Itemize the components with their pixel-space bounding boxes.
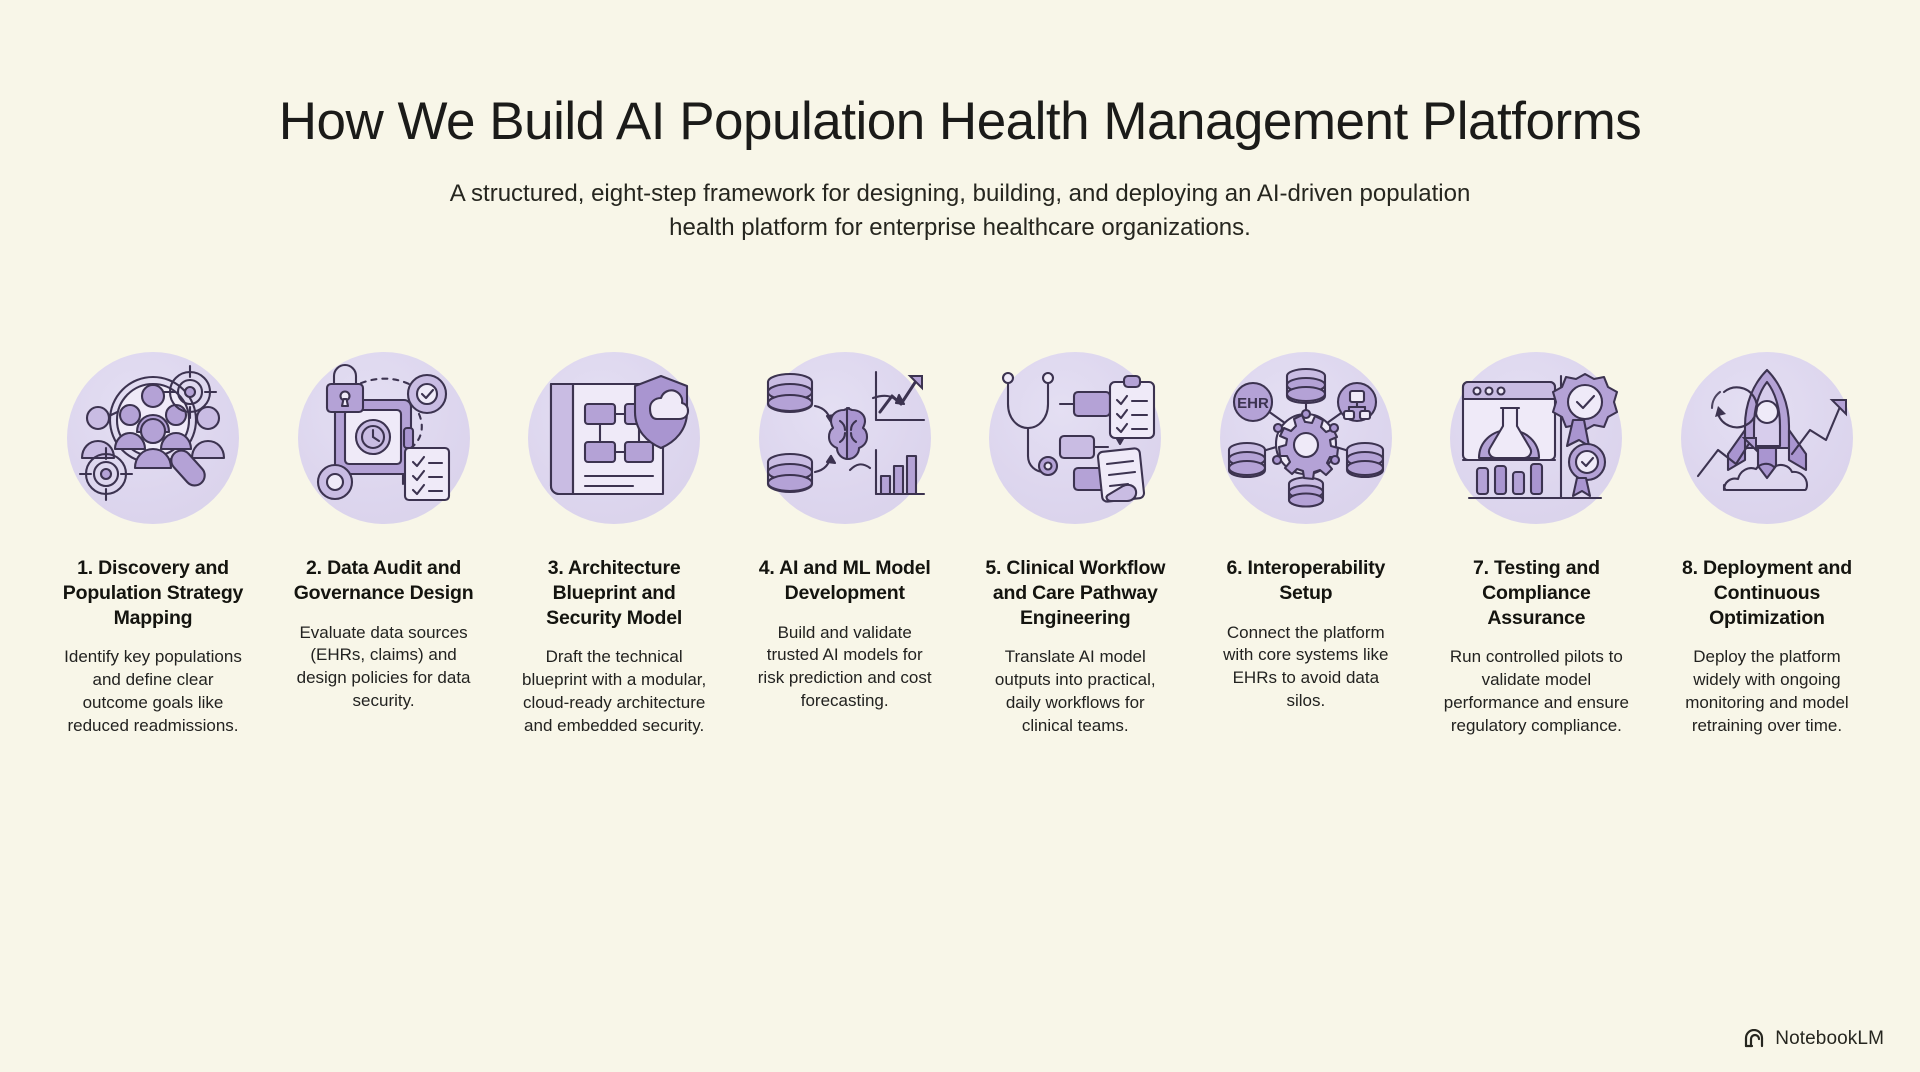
step-description: Connect the platform with core systems l… — [1213, 622, 1399, 713]
step-7-icon-wrap — [1443, 352, 1629, 524]
step-description: Deploy the platform widely with ongoing … — [1674, 646, 1860, 737]
step-title: 8. Deployment and Continuous Optimizatio… — [1675, 556, 1859, 630]
step-description: Run controlled pilots to validate model … — [1443, 646, 1629, 737]
infographic-page: How We Build AI Population Health Manage… — [0, 0, 1920, 1072]
page-subtitle: A structured, eight-step framework for d… — [420, 177, 1500, 245]
step-5-icon-wrap — [982, 352, 1168, 524]
database-bottom-center — [1289, 478, 1323, 507]
rocket-growth-refresh-icon — [1682, 358, 1852, 518]
header: How We Build AI Population Health Manage… — [0, 0, 1920, 246]
step-8-icon-wrap — [1674, 352, 1860, 524]
steps-row: 1. Discovery and Population Strategy Map… — [60, 352, 1860, 737]
watermark: NotebookLM — [1743, 1028, 1884, 1050]
step-card-6[interactable]: EHR — [1213, 352, 1399, 713]
watermark-label: NotebookLM — [1775, 1028, 1884, 1050]
step-card-2[interactable]: 2. Data Audit and Governance Design Eval… — [291, 352, 477, 713]
step-title: 1. Discovery and Population Strategy Map… — [61, 556, 245, 630]
step-description: Draft the technical blueprint with a mod… — [521, 646, 707, 737]
database-top-center — [1287, 369, 1325, 403]
step-2-icon-wrap — [291, 352, 477, 524]
step-6-icon-wrap: EHR — [1213, 352, 1399, 524]
step-description: Build and validate trusted AI models for… — [752, 622, 938, 713]
database-left — [1229, 443, 1265, 477]
stethoscope-workflow-clipboard-icon — [990, 358, 1160, 518]
step-title: 4. AI and ML Model Development — [753, 556, 937, 606]
step-card-4[interactable]: 4. AI and ML Model Development Build and… — [752, 352, 938, 713]
step-title: 5. Clinical Workflow and Care Pathway En… — [983, 556, 1167, 630]
step-card-3[interactable]: 3. Architecture Blueprint and Security M… — [521, 352, 707, 737]
step-card-8[interactable]: 8. Deployment and Continuous Optimizatio… — [1674, 352, 1860, 737]
database-right — [1347, 443, 1383, 477]
step-title: 2. Data Audit and Governance Design — [292, 556, 476, 606]
hub-gear-database-ehr-icon: EHR — [1221, 358, 1391, 518]
step-card-1[interactable]: 1. Discovery and Population Strategy Map… — [60, 352, 246, 737]
blueprint-shield-cloud-icon — [529, 358, 699, 518]
step-description: Translate AI model outputs into practica… — [982, 646, 1168, 737]
step-3-icon-wrap — [521, 352, 707, 524]
database-bottom — [768, 454, 812, 492]
safe-lock-gear-checklist-icon — [299, 358, 469, 518]
step-title: 3. Architecture Blueprint and Security M… — [522, 556, 706, 630]
badge-small — [1569, 444, 1605, 496]
step-card-7[interactable]: 7. Testing and Compliance Assurance Run … — [1443, 352, 1629, 737]
step-4-icon-wrap — [752, 352, 938, 524]
step-card-5[interactable]: 5. Clinical Workflow and Care Pathway En… — [982, 352, 1168, 737]
ehr-node-label: EHR — [1237, 395, 1269, 412]
badge-large — [1553, 374, 1617, 446]
step-1-icon-wrap — [60, 352, 246, 524]
step-description: Identify key populations and define clea… — [60, 646, 246, 737]
page-title: How We Build AI Population Health Manage… — [0, 92, 1920, 151]
magnifier-people-target-icon — [68, 358, 238, 518]
step-title: 7. Testing and Compliance Assurance — [1444, 556, 1628, 630]
notebooklm-logo-icon — [1743, 1029, 1767, 1049]
database-top — [768, 374, 812, 412]
step-description: Evaluate data sources (EHRs, claims) and… — [291, 622, 477, 713]
brain-database-chart-icon — [760, 358, 930, 518]
lab-browser-badge-check-icon — [1451, 358, 1621, 518]
step-title: 6. Interoperability Setup — [1214, 556, 1398, 606]
